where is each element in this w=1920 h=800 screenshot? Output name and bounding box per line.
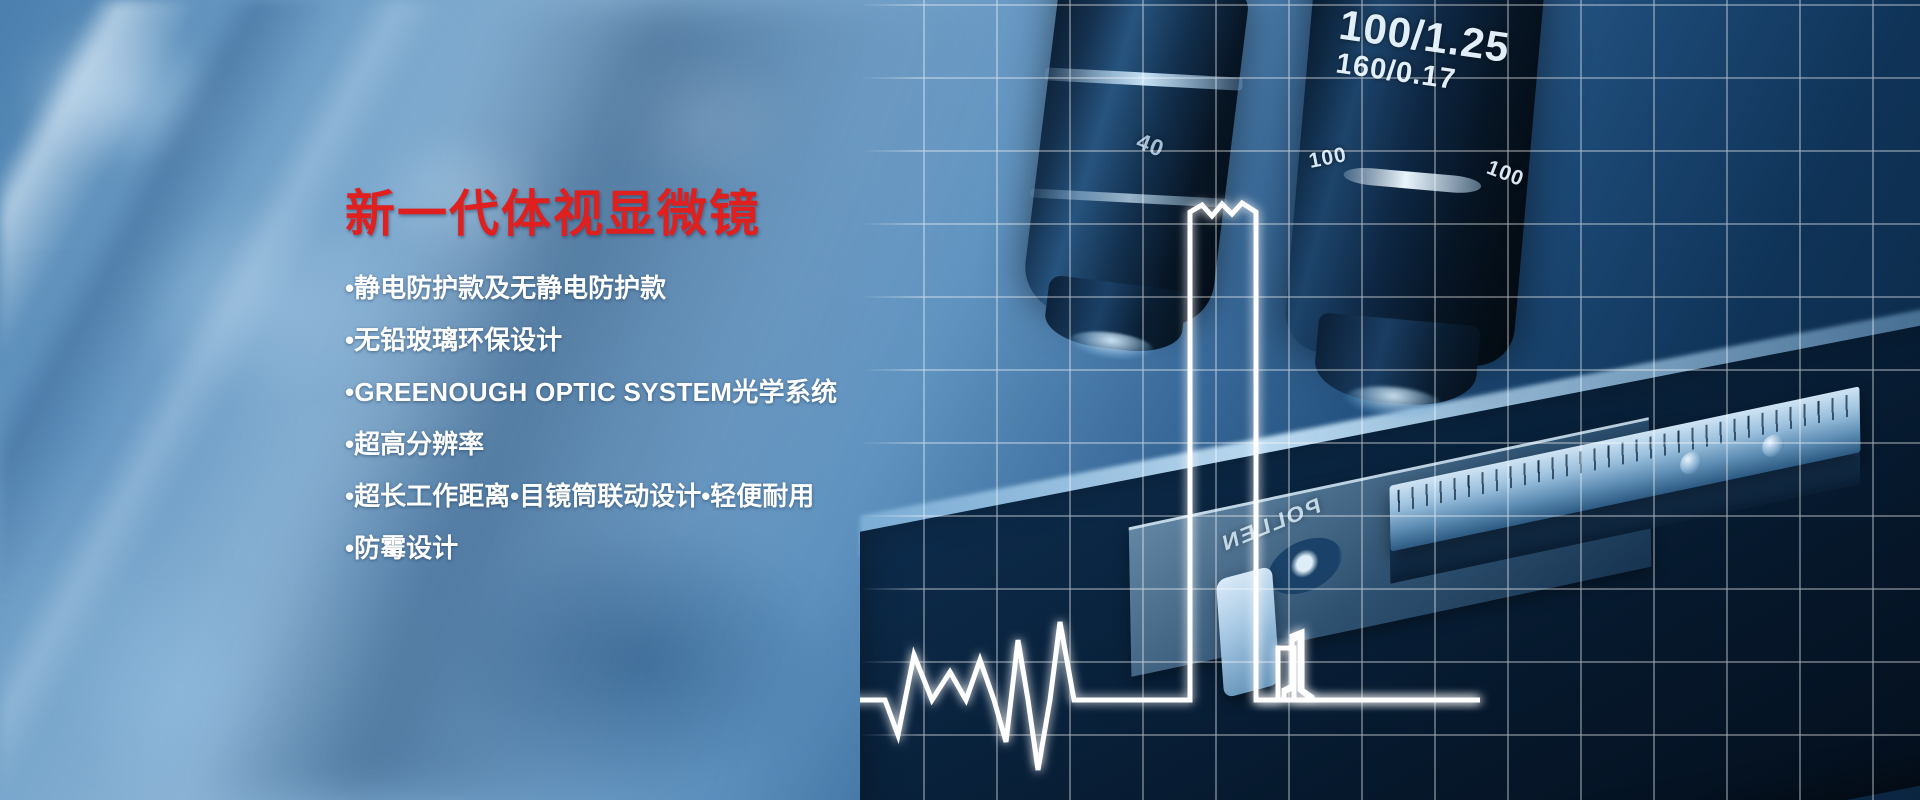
feature-bullet: •超高分辨率 [345,431,965,457]
feature-bullet: •防霉设计 [345,535,965,561]
product-banner: POLLEN 40 100/1.25 160/0.17 100 100 [0,0,1920,800]
feature-bullet: •GREENOUGH OPTIC SYSTEM光学系统 [345,379,965,405]
page-title: 新一代体视显微镜 [345,188,965,241]
feature-bullet: •无铅玻璃环保设计 [345,327,965,353]
waveform-overlay [860,0,1920,800]
copy-block: 新一代体视显微镜 •静电防护款及无静电防护款 •无铅玻璃环保设计 •GREENO… [345,188,965,587]
feature-bullet: •静电防护款及无静电防护款 [345,275,965,301]
feature-bullet: •超长工作距离•目镜筒联动设计•轻便耐用 [345,483,965,509]
